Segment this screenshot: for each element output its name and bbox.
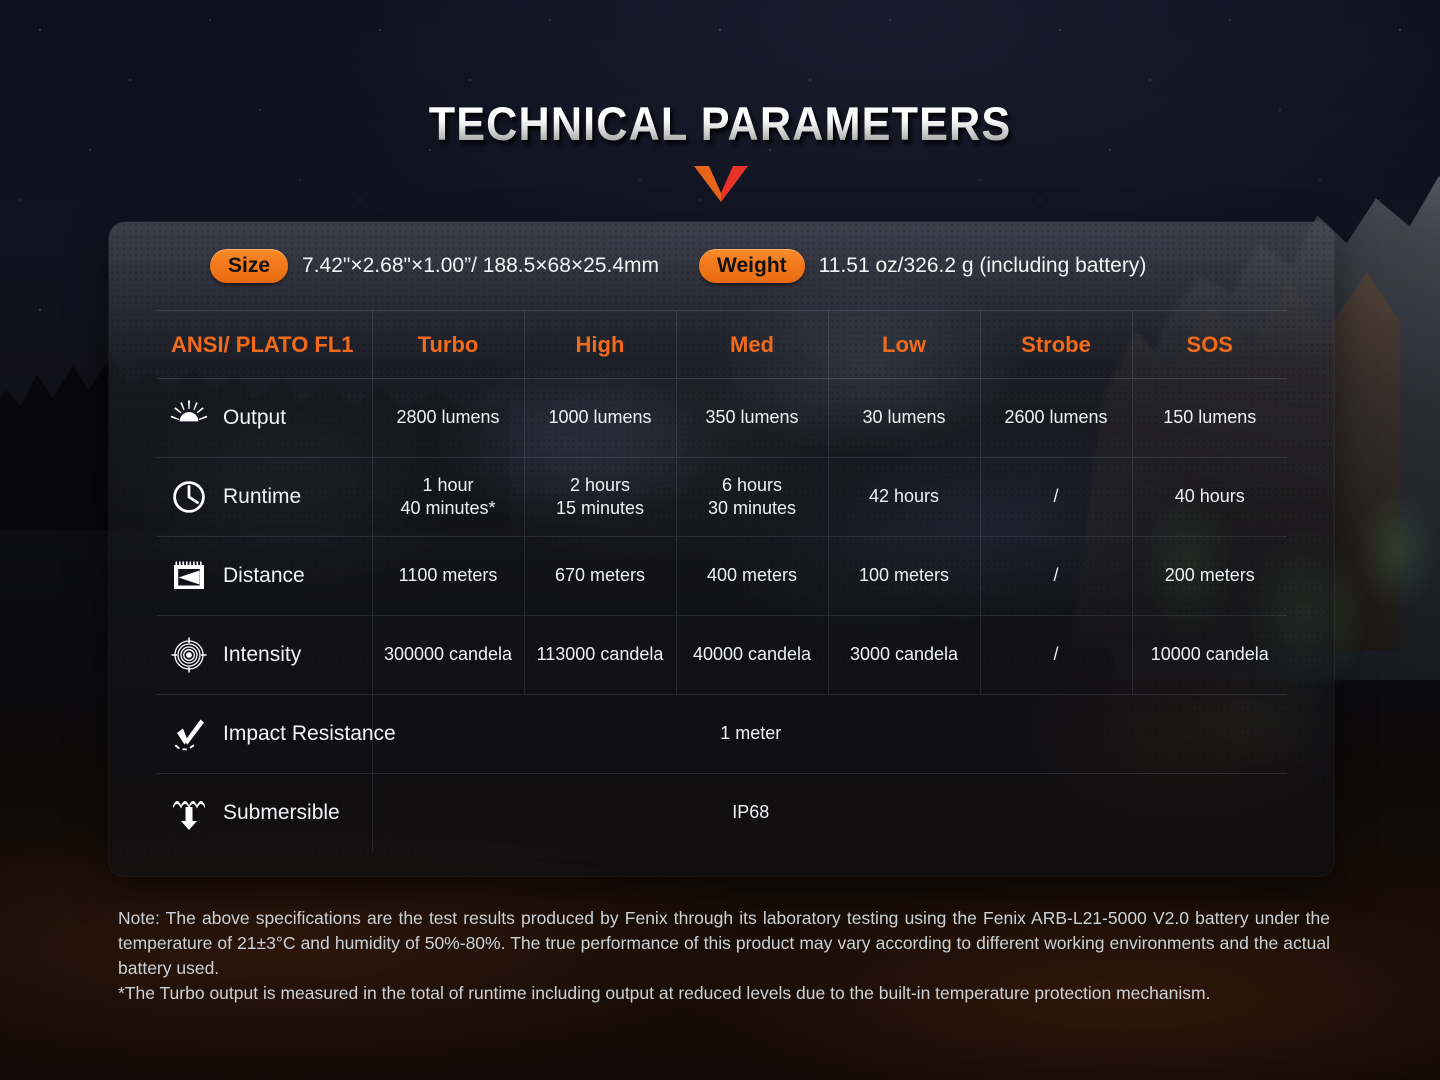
footnote-line-1: Note: The above specifications are the t…	[118, 906, 1330, 981]
cell-runtime-sos: 40 hours	[1132, 458, 1287, 537]
table-row: Intensity 300000 candela 113000 candela …	[157, 616, 1287, 695]
impact-check-icon	[169, 714, 209, 754]
cell-runtime-turbo: 1 hour40 minutes*	[372, 458, 524, 537]
cell-output-strobe: 2600 lumens	[980, 379, 1132, 458]
row-label-text: Distance	[223, 563, 305, 590]
row-label-text: Impact Resistance	[223, 721, 396, 748]
target-icon	[169, 635, 209, 675]
column-header-high: High	[524, 311, 676, 379]
cell-impact-resistance-value: 1 meter	[372, 695, 1287, 774]
cell-output-high: 1000 lumens	[524, 379, 676, 458]
weight-badge: Weight	[699, 249, 805, 283]
cell-intensity-low: 3000 candela	[828, 616, 980, 695]
column-header-strobe: Strobe	[980, 311, 1132, 379]
column-header-sos: SOS	[1132, 311, 1287, 379]
row-label-runtime: Runtime	[157, 458, 372, 537]
cell-output-turbo: 2800 lumens	[372, 379, 524, 458]
page-title: TECHNICAL PARAMETERS	[58, 96, 1383, 151]
size-badge: Size	[210, 249, 288, 283]
row-label-intensity: Intensity	[157, 616, 372, 695]
column-header-ansi: ANSI/ PLATO FL1	[157, 311, 372, 379]
cell-distance-high: 670 meters	[524, 537, 676, 616]
cell-intensity-strobe: /	[980, 616, 1132, 695]
row-label-text: Runtime	[223, 484, 301, 511]
table-header-row: ANSI/ PLATO FL1 Turbo High Med Low Strob…	[157, 311, 1287, 379]
size-weight-row: Size 7.42"×2.68"×1.00”/ 188.5×68×25.4mm …	[109, 222, 1334, 310]
cell-distance-med: 400 meters	[676, 537, 828, 616]
submersible-value-text: IP68	[215, 801, 1288, 824]
weight-value: 11.51 oz/326.2 g (including battery)	[819, 254, 1147, 278]
cell-intensity-med: 40000 candela	[676, 616, 828, 695]
cell-distance-turbo: 1100 meters	[372, 537, 524, 616]
cell-output-sos: 150 lumens	[1132, 379, 1287, 458]
cell-distance-sos: 200 meters	[1132, 537, 1287, 616]
cell-distance-strobe: /	[980, 537, 1132, 616]
clock-icon	[169, 477, 209, 517]
spec-panel: Size 7.42"×2.68"×1.00”/ 188.5×68×25.4mm …	[109, 222, 1334, 876]
cell-submersible-value: IP68	[372, 774, 1287, 853]
footnote: Note: The above specifications are the t…	[118, 906, 1330, 1006]
row-label-distance: Distance	[157, 537, 372, 616]
cell-intensity-turbo: 300000 candela	[372, 616, 524, 695]
cell-intensity-sos: 10000 candela	[1132, 616, 1287, 695]
sunburst-icon	[169, 398, 209, 438]
cell-runtime-low: 42 hours	[828, 458, 980, 537]
size-value: 7.42"×2.68"×1.00”/ 188.5×68×25.4mm	[302, 254, 659, 278]
column-header-turbo: Turbo	[372, 311, 524, 379]
specification-table: ANSI/ PLATO FL1 Turbo High Med Low Strob…	[157, 310, 1287, 852]
cell-runtime-high: 2 hours15 minutes	[524, 458, 676, 537]
ruler-beam-icon	[169, 556, 209, 596]
cell-intensity-high: 113000 candela	[524, 616, 676, 695]
table-row: Submersible IP68	[157, 774, 1287, 853]
cell-runtime-med: 6 hours30 minutes	[676, 458, 828, 537]
cell-runtime-strobe: /	[980, 458, 1132, 537]
row-label-text: Output	[223, 405, 286, 432]
table-row: Runtime 1 hour40 minutes* 2 hours15 minu…	[157, 458, 1287, 537]
row-label-text: Intensity	[223, 642, 301, 669]
column-header-low: Low	[828, 311, 980, 379]
cell-output-low: 30 lumens	[828, 379, 980, 458]
row-label-impact-resistance: Impact Resistance	[157, 695, 372, 774]
submersible-arrow-icon	[169, 793, 209, 833]
row-label-text: Submersible	[223, 800, 340, 827]
footnote-line-2: *The Turbo output is measured in the tot…	[118, 981, 1330, 1006]
cell-output-med: 350 lumens	[676, 379, 828, 458]
column-header-med: Med	[676, 311, 828, 379]
row-label-output: Output	[157, 379, 372, 458]
table-row: Distance 1100 meters 670 meters 400 mete…	[157, 537, 1287, 616]
chevron-down-icon	[694, 166, 748, 202]
table-row: Output 2800 lumens 1000 lumens 350 lumen…	[157, 379, 1287, 458]
cell-distance-low: 100 meters	[828, 537, 980, 616]
table-row: Impact Resistance 1 meter	[157, 695, 1287, 774]
